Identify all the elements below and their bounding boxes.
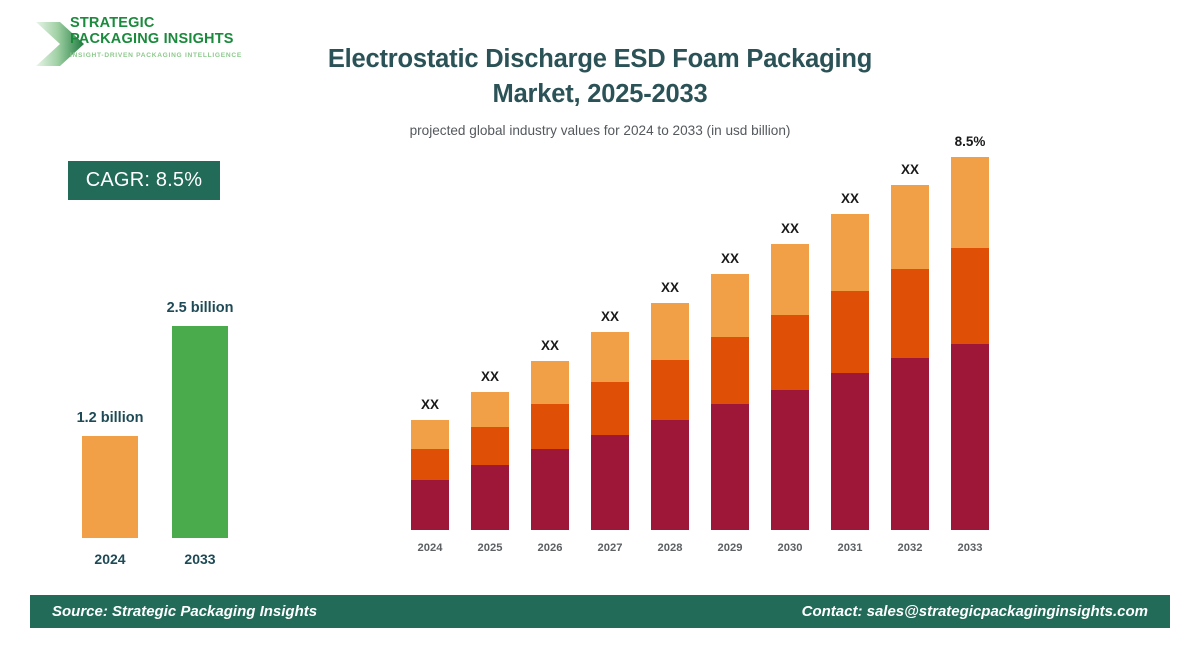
forecast-bar-segment	[891, 269, 929, 358]
forecast-stacked-bar	[891, 185, 929, 530]
forecast-x-tick-label: 2030	[760, 542, 820, 554]
forecast-bar-group: XX2030	[760, 195, 820, 530]
comparison-bar-value-label: 1.2 billion	[45, 410, 175, 426]
forecast-bar-segment	[651, 303, 689, 361]
forecast-bar-segment	[831, 373, 869, 530]
header-block: Electrostatic Discharge ESD Foam Packagi…	[290, 42, 910, 141]
forecast-bar-group: 8.5%2033	[940, 195, 1000, 530]
forecast-bar-segment	[471, 392, 509, 428]
forecast-bar-segment	[531, 404, 569, 449]
forecast-x-tick-label: 2024	[400, 542, 460, 554]
forecast-x-tick-label: 2028	[640, 542, 700, 554]
brand-logo-line-1: STRATEGIC	[70, 16, 270, 32]
page-subtitle: projected global industry values for 202…	[290, 121, 910, 141]
forecast-bar-value-label: 8.5%	[940, 134, 1000, 149]
forecast-bar-group: XX2032	[880, 195, 940, 530]
forecast-bar-segment	[411, 420, 449, 449]
forecast-stacked-bar	[651, 303, 689, 530]
forecast-bar-segment	[411, 449, 449, 479]
infographic-canvas: STRATEGIC PACKAGING INSIGHTS INSIGHT-DRI…	[0, 0, 1200, 650]
forecast-bar-segment	[651, 360, 689, 420]
forecast-bar-segment	[591, 332, 629, 382]
forecast-bar-segment	[531, 361, 569, 404]
forecast-bar-value-label: XX	[460, 369, 520, 384]
forecast-bar-group: XX2025	[460, 195, 520, 530]
forecast-bar-segment	[951, 344, 989, 530]
forecast-bar-segment	[771, 315, 809, 389]
footer-source-text: Source: Strategic Packaging Insights	[52, 603, 317, 620]
forecast-bar-value-label: XX	[880, 162, 940, 177]
forecast-bar-group: XX2027	[580, 195, 640, 530]
brand-logo-line-2: PACKAGING INSIGHTS	[70, 32, 270, 48]
forecast-bar-value-label: XX	[580, 309, 640, 324]
forecast-bar-segment	[471, 465, 509, 530]
forecast-bar-group: XX2026	[520, 195, 580, 530]
forecast-x-tick-label: 2029	[700, 542, 760, 554]
forecast-bar-segment	[591, 435, 629, 530]
forecast-bar-segment	[891, 358, 929, 530]
comparison-x-tick-label: 2033	[160, 551, 240, 567]
forecast-bar-segment	[711, 404, 749, 530]
forecast-x-tick-label: 2026	[520, 542, 580, 554]
forecast-bar-segment	[531, 449, 569, 530]
forecast-bar-segment	[711, 274, 749, 338]
comparison-plot-area: 1.2 billion20242.5 billion2033	[55, 300, 265, 538]
comparison-bar-group: 1.2 billion2024	[70, 300, 150, 538]
forecast-bar-segment	[771, 244, 809, 315]
forecast-plot-area: XX2024XX2025XX2026XX2027XX2028XX2029XX20…	[400, 195, 1000, 530]
forecast-stacked-bar	[951, 157, 989, 530]
page-title: Electrostatic Discharge ESD Foam Packagi…	[290, 42, 910, 112]
forecast-bar-segment	[771, 390, 809, 530]
footer-bar: Source: Strategic Packaging Insights Con…	[30, 595, 1170, 628]
comparison-x-tick-label: 2024	[70, 551, 150, 567]
forecast-bar-value-label: XX	[820, 191, 880, 206]
forecast-x-tick-label: 2032	[880, 542, 940, 554]
brand-tagline: INSIGHT-DRIVEN PACKAGING INTELLIGENCE	[70, 52, 270, 59]
comparison-bar	[82, 436, 138, 538]
forecast-bar-segment	[951, 248, 989, 343]
forecast-bar-segment	[831, 291, 869, 373]
forecast-stacked-bar	[471, 392, 509, 530]
forecast-stacked-bar	[831, 214, 869, 530]
forecast-bar-group: XX2029	[700, 195, 760, 530]
forecast-bar-segment	[651, 420, 689, 530]
forecast-bar-value-label: XX	[640, 280, 700, 295]
forecast-bar-value-label: XX	[760, 221, 820, 236]
forecast-bar-value-label: XX	[520, 338, 580, 353]
comparison-bar	[172, 326, 228, 539]
forecast-x-tick-label: 2025	[460, 542, 520, 554]
comparison-bar-group: 2.5 billion2033	[160, 300, 240, 538]
forecast-stacked-bar	[591, 332, 629, 530]
forecast-x-tick-label: 2033	[940, 542, 1000, 554]
cagr-badge: CAGR: 8.5%	[68, 161, 220, 200]
forecast-bar-group: XX2024	[400, 195, 460, 530]
forecast-stacked-bar	[771, 244, 809, 530]
forecast-stacked-bar	[531, 361, 569, 530]
forecast-bar-group: XX2031	[820, 195, 880, 530]
forecast-bar-segment	[951, 157, 989, 248]
forecast-bar-segment	[891, 185, 929, 270]
forecast-bar-segment	[831, 214, 869, 291]
forecast-bar-segment	[591, 382, 629, 434]
brand-logo: STRATEGIC PACKAGING INSIGHTS INSIGHT-DRI…	[30, 14, 270, 76]
forecast-x-tick-label: 2027	[580, 542, 640, 554]
forecast-bar-value-label: XX	[400, 397, 460, 412]
comparison-bar-value-label: 2.5 billion	[135, 300, 265, 316]
forecast-stacked-bar	[711, 274, 749, 530]
forecast-stacked-bar	[411, 420, 449, 530]
forecast-bar-segment	[471, 427, 509, 465]
footer-contact-text: Contact: sales@strategicpackaginginsight…	[802, 603, 1148, 620]
forecast-bar-segment	[411, 480, 449, 530]
brand-logo-text: STRATEGIC PACKAGING INSIGHTS INSIGHT-DRI…	[70, 16, 270, 59]
forecast-bar-group: XX2028	[640, 195, 700, 530]
forecast-bar-value-label: XX	[700, 251, 760, 266]
forecast-bar-segment	[711, 337, 749, 404]
market-size-comparison-chart: 1.2 billion20242.5 billion2033	[55, 300, 265, 575]
forecast-stacked-chart: XX2024XX2025XX2026XX2027XX2028XX2029XX20…	[400, 195, 1000, 560]
forecast-x-tick-label: 2031	[820, 542, 880, 554]
